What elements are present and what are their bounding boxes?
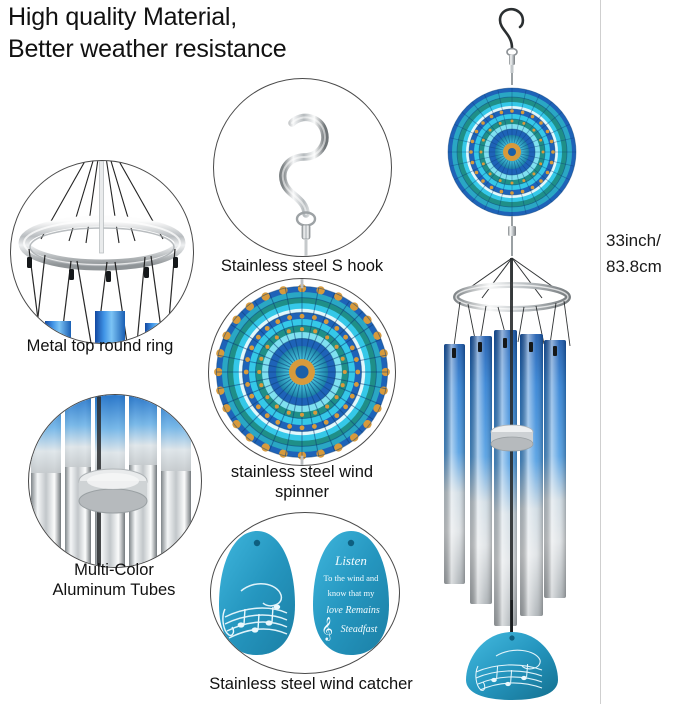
dimension-inches: 33inch/ [606, 228, 679, 254]
wind-chime-full-product [424, 0, 600, 704]
pendant-music [219, 531, 295, 655]
product-chime-tubes [444, 330, 566, 626]
infographic-canvas: High quality Material, Better weather re… [0, 0, 679, 704]
product-mandala-spinner [448, 88, 576, 216]
product-s-hook [500, 9, 523, 73]
product-photo [424, 0, 600, 704]
caption-metal-top-round-ring: Metal top round ring [0, 336, 200, 356]
product-wind-catcher [466, 600, 558, 700]
engraving-line-2: To the wind and [324, 573, 380, 583]
engraving-line-4: love Remains [326, 605, 380, 616]
caption-line-1: Stainless steel S hook [196, 256, 408, 276]
mandala-spinner-illustration [209, 279, 395, 465]
vertical-divider [600, 0, 601, 704]
engraving-line-1: Listen [334, 553, 367, 568]
callout-stainless-steel-wind-catcher: Listen To the wind and know that my love… [210, 512, 400, 674]
caption-stainless-steel-s-hook: Stainless steel S hook [196, 256, 408, 276]
product-striker-disc [491, 425, 533, 451]
caption-multi-color-aluminum-tubes: Multi-Color Aluminum Tubes [14, 560, 214, 600]
page-title: High quality Material, Better weather re… [8, 2, 428, 65]
caption-line-1: Multi-Color [14, 560, 214, 580]
caption-line-1: Metal top round ring [0, 336, 200, 356]
dimension-cm: 83.8cm [606, 254, 679, 280]
callout-stainless-steel-wind-spinner [208, 278, 396, 466]
caption-stainless-steel-wind-catcher: Stainless steel wind catcher [176, 674, 446, 694]
caption-line-1: Stainless steel wind catcher [176, 674, 446, 694]
wind-catcher-illustration: Listen To the wind and know that my love… [211, 513, 399, 673]
pendant-text: Listen To the wind and know that my love… [313, 531, 389, 655]
headline-line-2: Better weather resistance [8, 34, 428, 66]
caption-stainless-steel-wind-spinner: stainless steel wind spinner [196, 462, 408, 502]
caption-line-2: spinner [196, 482, 408, 502]
dimension-label: 33inch/ 83.8cm [606, 228, 679, 279]
treble-clef-icon: 𝄞 [321, 618, 333, 641]
callout-metal-top-round-ring [10, 160, 194, 344]
headline-line-1: High quality Material, [8, 2, 428, 34]
engraving-line-5: Steadfast [341, 624, 378, 635]
engraving-line-3: know that my [328, 588, 375, 598]
callout-stainless-steel-s-hook [213, 78, 392, 257]
callout-multi-color-aluminum-tubes [28, 394, 202, 568]
s-hook-illustration [214, 79, 391, 256]
caption-line-2: Aluminum Tubes [14, 580, 214, 600]
caption-line-1: stainless steel wind [196, 462, 408, 482]
aluminum-tubes-illustration [29, 395, 201, 567]
metal-ring-illustration [11, 161, 193, 343]
